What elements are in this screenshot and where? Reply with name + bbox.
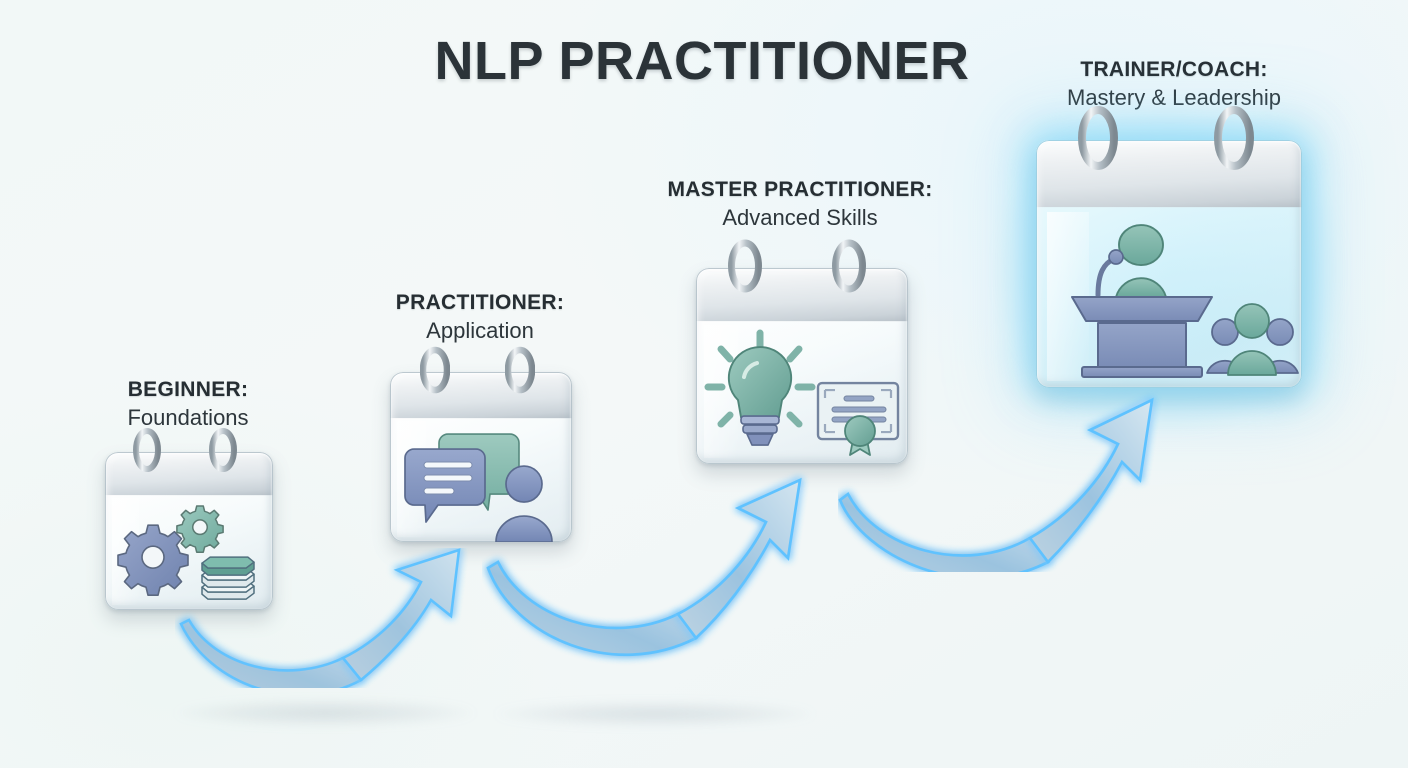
stage-label-beginner: BEGINNER: Foundations	[63, 378, 313, 431]
calendar-ring-left-icon	[133, 428, 161, 478]
calendar-ring-right-icon	[209, 428, 237, 478]
stage-label-trainer-coach: TRAINER/COACH: Mastery & Leadership	[1014, 58, 1334, 111]
calendar-ring-left-icon	[1078, 104, 1118, 178]
stage-subtitle: Foundations	[63, 405, 313, 431]
calendar-ring-left-icon	[728, 238, 762, 300]
stage-heading: PRACTITIONER:	[358, 291, 602, 315]
calendar-ring-right-icon	[1214, 104, 1254, 178]
calendar-ring-right-icon	[832, 238, 866, 300]
stage-subtitle: Advanced Skills	[645, 205, 955, 231]
stage-heading: BEGINNER:	[63, 378, 313, 402]
stage-label-practitioner: PRACTITIONER: Application	[358, 291, 602, 344]
stage-heading: MASTER PRACTITIONER:	[645, 178, 955, 202]
calendar-header-bar	[105, 452, 273, 496]
calendar-header-bar	[390, 372, 572, 419]
stage-card-trainer-coach[interactable]	[1036, 140, 1302, 388]
arrow-master-to-trainer	[838, 382, 1164, 572]
arrow-practitioner-to-master	[482, 466, 812, 666]
calendar-header-bar	[1036, 140, 1302, 208]
stage-label-master-practitioner: MASTER PRACTITIONER: Advanced Skills	[645, 178, 955, 231]
stage-heading: TRAINER/COACH:	[1014, 58, 1334, 82]
calendar-ring-left-icon	[420, 346, 450, 400]
diagram-canvas: NLP PRACTITIONER	[0, 0, 1408, 768]
ground-shadow-2	[495, 702, 815, 726]
arrow-beginner-to-practitioner	[175, 548, 475, 688]
calendar-ring-right-icon	[505, 346, 535, 400]
podium-speaker-and-audience-icon	[1036, 207, 1302, 388]
stage-subtitle: Application	[358, 318, 602, 344]
ground-shadow-1	[175, 700, 475, 726]
